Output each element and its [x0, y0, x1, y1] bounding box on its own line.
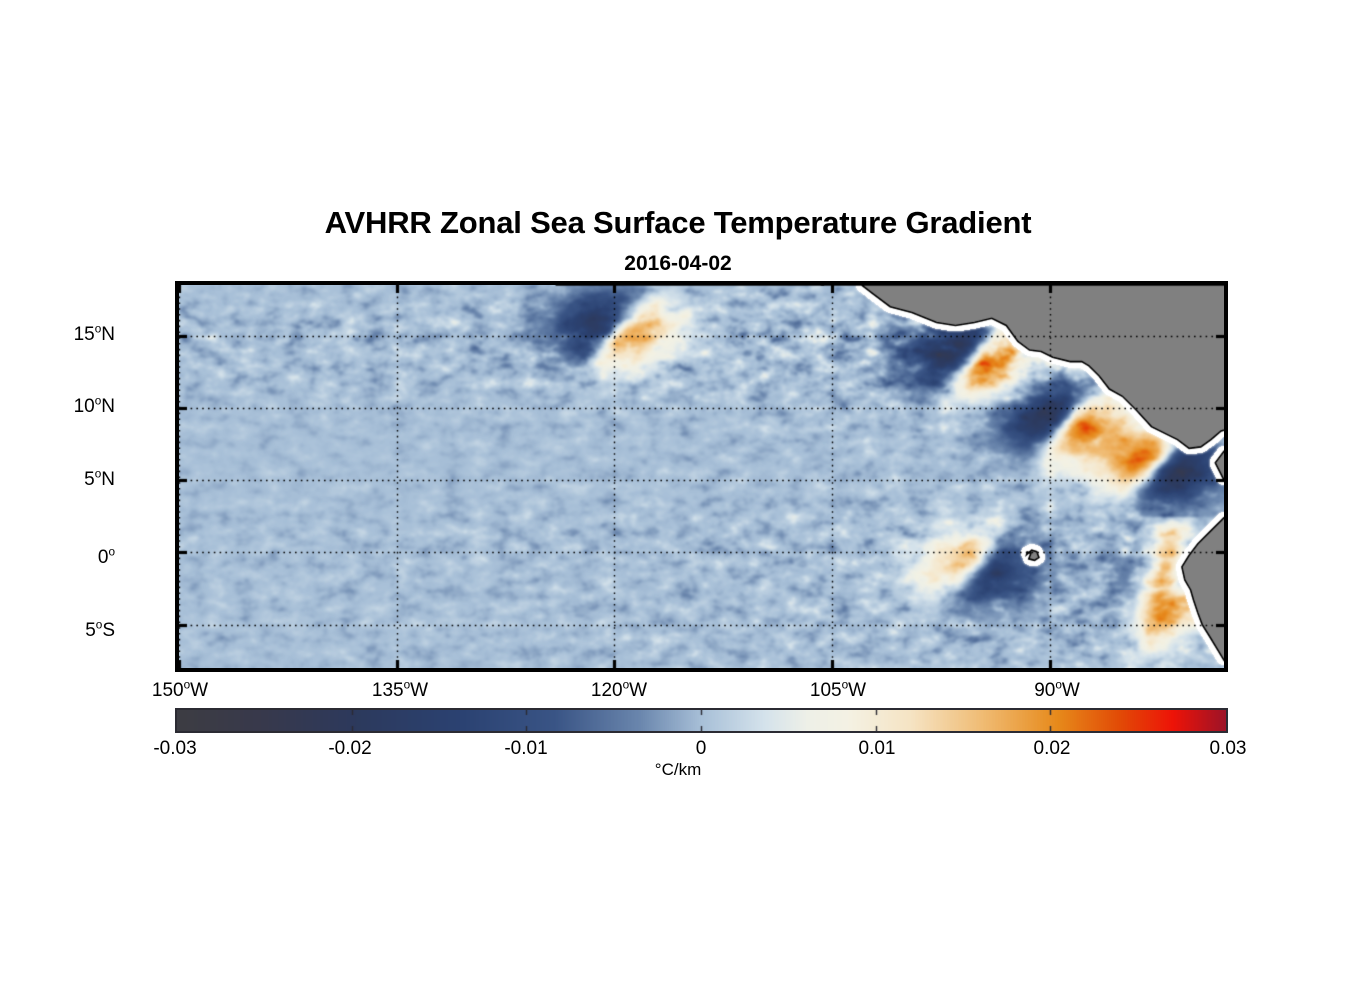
chart-subtitle-date: 2016-04-02 [0, 252, 1356, 276]
xtick-label-135W: 135oW [320, 680, 480, 702]
colorbar-tick--0.02: -0.02 [270, 738, 430, 760]
colorbar-gradient [177, 710, 1226, 731]
colorbar-tick-0.03: 0.03 [1148, 738, 1308, 760]
xtick-label-105W: 105oW [758, 680, 918, 702]
colorbar [175, 708, 1228, 733]
colorbar-tick--0.01: -0.01 [446, 738, 606, 760]
colorbar-tick-0.02: 0.02 [972, 738, 1132, 760]
map-plot-area [175, 281, 1228, 672]
ytick-label-15N: 15oN [0, 324, 115, 346]
xtick-label-150W: 150oW [100, 680, 260, 702]
page-title: AVHRR Zonal Sea Surface Temperature Grad… [0, 205, 1356, 241]
colorbar-unit-label: °C/km [0, 760, 1356, 780]
xtick-label-90W: 90oW [977, 680, 1137, 702]
xtick-label-120W: 120oW [539, 680, 699, 702]
ytick-label-5N: 5oN [0, 469, 115, 491]
colorbar-tick--0.03: -0.03 [95, 738, 255, 760]
map-gridlines-and-land-overlay [179, 285, 1224, 668]
colorbar-tick-0.01: 0.01 [797, 738, 957, 760]
ytick-label-10N: 10oN [0, 396, 115, 418]
colorbar-tick-0: 0 [621, 738, 781, 760]
ytick-label-0: 0o [0, 547, 115, 569]
ytick-label-5S: 5oS [0, 620, 115, 642]
